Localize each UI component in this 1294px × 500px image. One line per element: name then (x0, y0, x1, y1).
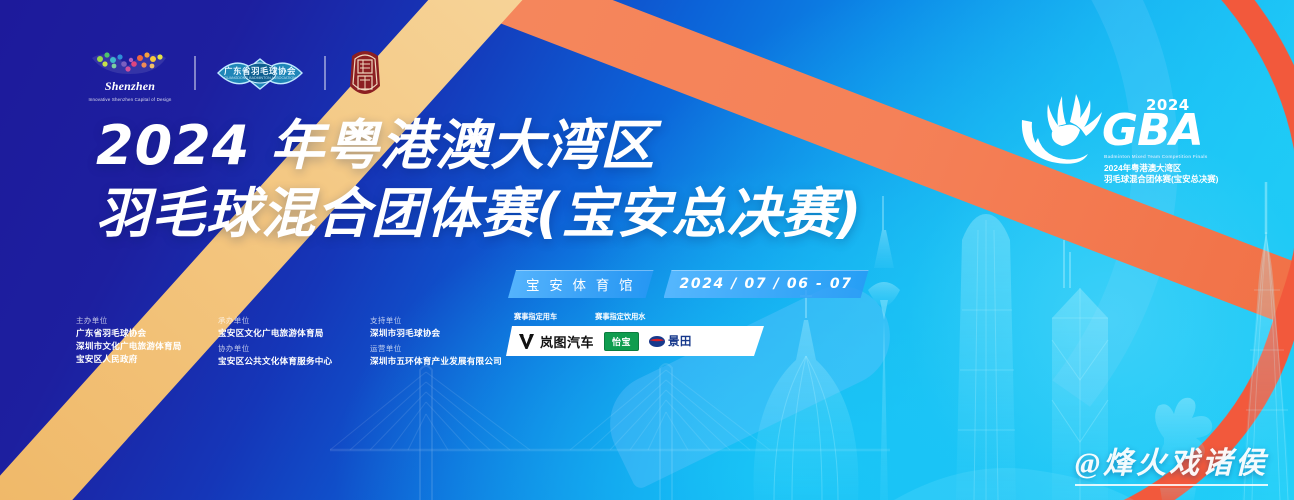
title-line-1: 2024 年粤港澳大湾区 (96, 116, 862, 176)
organizer-columns: 主办单位 广东省羽毛球协会 深圳市文化广电旅游体育局 宝安区人民政府 承办单位 … (76, 312, 520, 367)
ganten-logo (649, 336, 665, 347)
logo-divider-1 (194, 56, 196, 90)
organizer-item: 宝安区人民政府 (76, 353, 194, 365)
shenzhen-logo-subtitle: Innovative Shenzhen Capital of Design (86, 97, 174, 102)
ganten-sponsor: 景田 (649, 333, 692, 349)
organizer-column-1: 主办单位 广东省羽毛球协会 深圳市文化广电旅游体育局 宝安区人民政府 (76, 312, 194, 367)
voyah-sponsor: 岚图汽车 (518, 332, 594, 351)
top-logo-bar: Shenzhen Innovative Shenzhen Capital of … (86, 44, 384, 102)
emblem-cn-line-2: 羽毛球混合团体赛(宝安总决赛) (1104, 173, 1218, 185)
organizer-item: 深圳市五环体育产业发展有限公司 (370, 355, 520, 367)
guangdong-badminton-association-logo: 广东省羽毛球协会 GUANGDONG BADMINTON ASSOCIATION (216, 49, 304, 97)
organizer-heading: 支持单位 (370, 315, 520, 326)
poster-canvas: Shenzhen Innovative Shenzhen Capital of … (0, 0, 1294, 500)
emblem-acronym: GBA (1102, 109, 1203, 153)
logo-divider-2 (324, 56, 326, 90)
shenzhen-logo-label: Shenzhen (86, 79, 174, 94)
sponsor-headings: 赛事指定用车 赛事指定饮用水 (506, 312, 764, 322)
venue-pill: 宝 安 体 育 馆 (508, 270, 654, 298)
sponsor-strip: 赛事指定用车 赛事指定饮用水 岚图汽车 怡宝 景田 (506, 312, 764, 356)
date-pill: 2024 / 07 / 06 - 07 (664, 270, 869, 298)
sponsor-logo-bar: 岚图汽车 怡宝 景田 (506, 326, 764, 356)
ganten-name: 景田 (668, 333, 692, 349)
title-line-2: 羽毛球混合团体赛(宝安总决赛) (96, 184, 862, 244)
organizer-item: 宝安区公共文化体育服务中心 (218, 355, 346, 367)
shenzhen-butterfly-logo: Shenzhen Innovative Shenzhen Capital of … (86, 44, 174, 102)
voyah-logo (518, 333, 535, 349)
organizer-item: 宝安区文化广电旅游体育局 (218, 327, 346, 339)
organizer-column-3: 支持单位 深圳市羽毛球协会 运营单位 深圳市五环体育产业发展有限公司 (370, 312, 520, 367)
organizer-heading: 协办单位 (218, 343, 346, 354)
organizer-heading: 主办单位 (76, 315, 194, 326)
venue-date-row: 宝 安 体 育 馆 2024 / 07 / 06 - 07 (508, 270, 869, 298)
gba-emblem: 2024 GBA Badminton Mixed Team Competitio… (1018, 96, 1230, 194)
cestbon-logo: 怡宝 (604, 332, 639, 351)
organizer-item: 深圳市羽毛球协会 (370, 327, 520, 339)
organizer-heading: 承办单位 (218, 315, 346, 326)
guangdong-logo-subtitle: GUANGDONG BADMINTON ASSOCIATION (216, 76, 304, 80)
shuttlecock-icon (1018, 92, 1114, 176)
main-title: 2024 年粤港澳大湾区 羽毛球混合团体赛(宝安总决赛) (96, 116, 862, 245)
organizer-item: 深圳市文化广电旅游体育局 (76, 340, 194, 352)
organizer-column-2: 承办单位 宝安区文化广电旅游体育局 协办单位 宝安区公共文化体育服务中心 (218, 312, 346, 367)
voyah-name: 岚图汽车 (540, 332, 594, 351)
organizer-item: 广东省羽毛球协会 (76, 327, 194, 339)
organizer-heading: 运营单位 (370, 343, 520, 354)
watermark: @烽火戏诸侯 (1075, 438, 1268, 486)
sponsor-heading-water: 赛事指定饮用水 (595, 312, 645, 322)
baoan-seal-logo (346, 46, 384, 100)
emblem-english-subtitle: Badminton Mixed Team Competition Finals (1104, 154, 1208, 159)
sponsor-heading-car: 赛事指定用车 (514, 312, 557, 322)
